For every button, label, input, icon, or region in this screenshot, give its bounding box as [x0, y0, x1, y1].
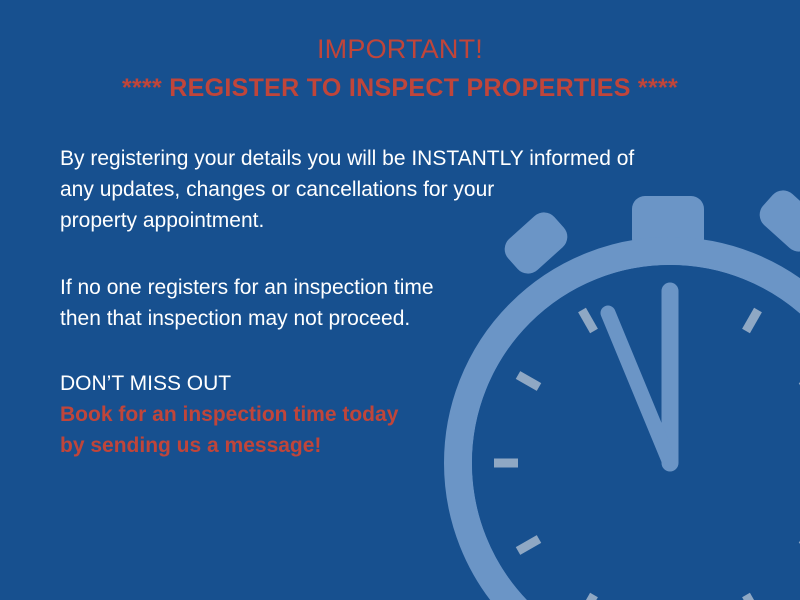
paragraph-no-registration-warning: If no one registers for an inspection ti…	[60, 272, 740, 334]
body-copy-block: By registering your details you will be …	[60, 143, 740, 461]
heading-block: IMPORTANT! **** REGISTER TO INSPECT PROP…	[0, 0, 800, 103]
clock-right-button	[754, 185, 800, 258]
heading-important: IMPORTANT!	[0, 0, 800, 65]
promotional-slide: IMPORTANT! **** REGISTER TO INSPECT PROP…	[0, 0, 800, 600]
clock-tick-5	[746, 595, 758, 600]
clock-tick-1	[746, 310, 758, 331]
clock-tick-8	[518, 539, 539, 551]
cta-send-message: by sending us a message!	[60, 430, 740, 461]
paragraph-registering-details: By registering your details you will be …	[60, 143, 740, 236]
cta-dont-miss-out: DON’T MISS OUT	[60, 368, 740, 399]
heading-register: **** REGISTER TO INSPECT PROPERTIES ****	[0, 65, 800, 103]
cta-book-inspection: Book for an inspection time today	[60, 399, 740, 430]
clock-tick-7	[582, 595, 594, 600]
call-to-action-block: DON’T MISS OUT Book for an inspection ti…	[60, 368, 740, 461]
